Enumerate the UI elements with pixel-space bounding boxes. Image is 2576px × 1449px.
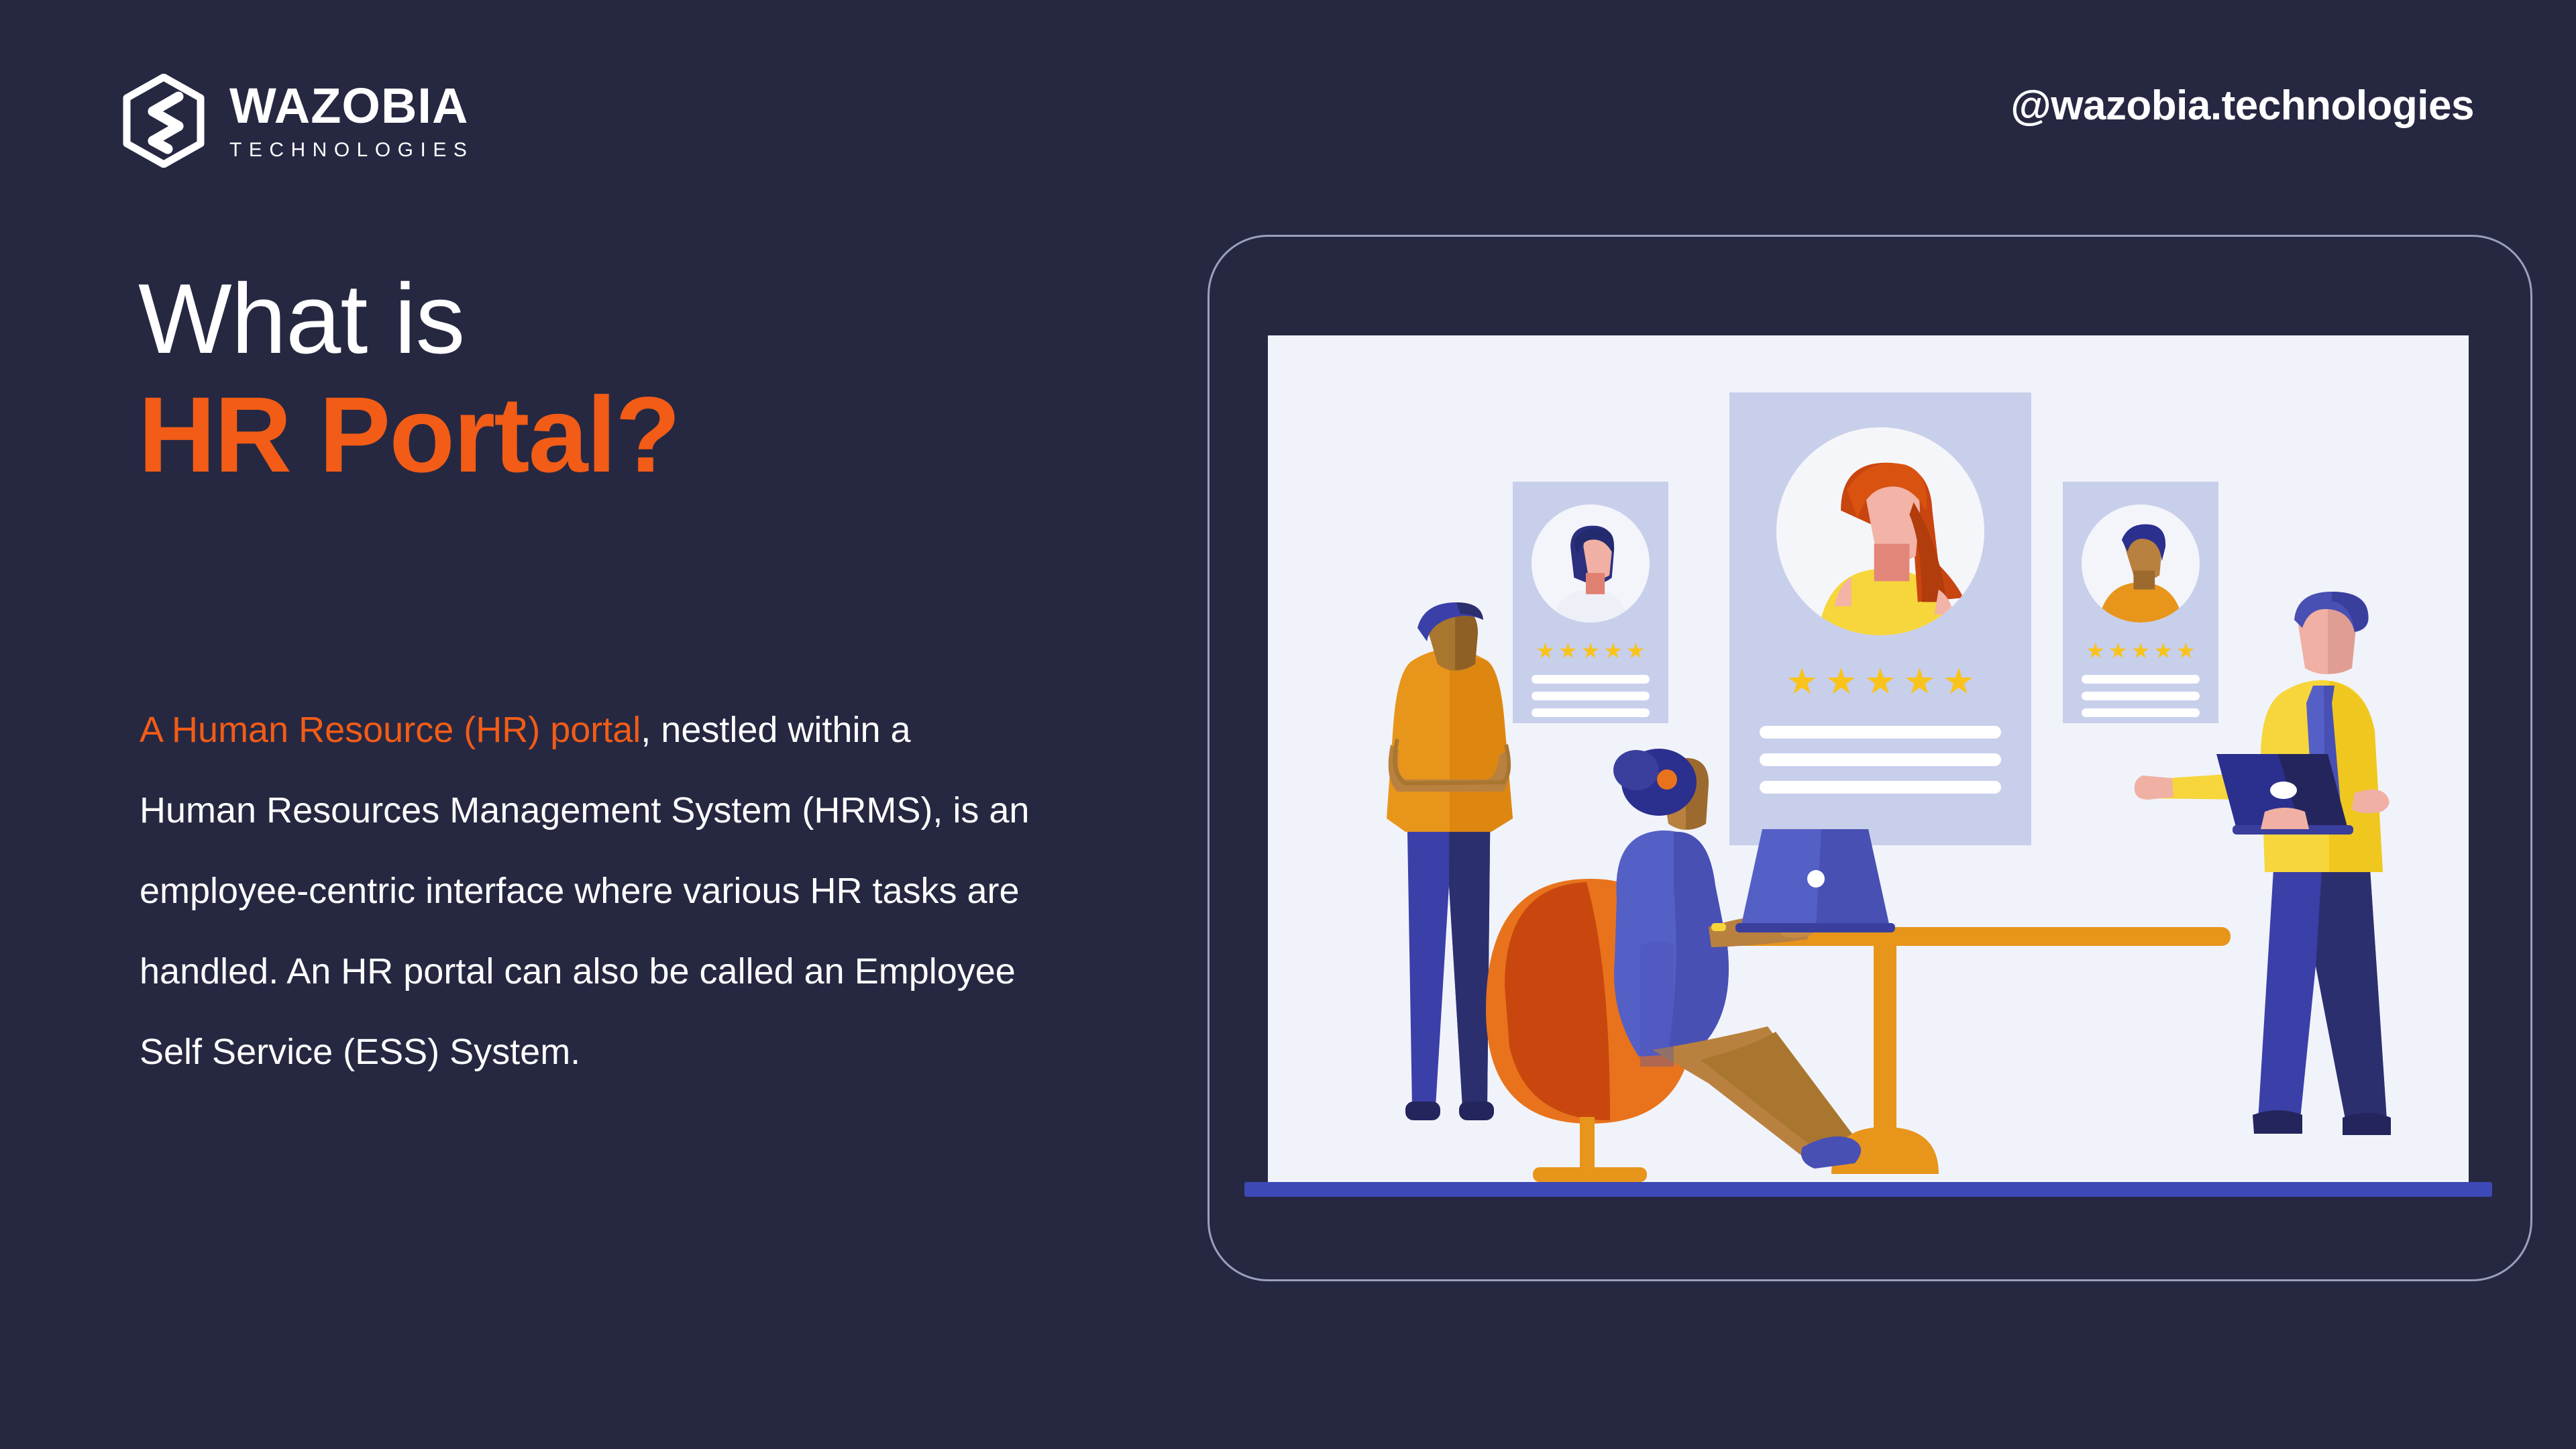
- body-paragraph: A Human Resource (HR) portal, nestled wi…: [140, 690, 1032, 1092]
- page-title: What is HR Portal?: [138, 267, 680, 491]
- star-icon: ★: [2108, 640, 2128, 661]
- body-rest-text: , nestled within a Human Resources Manag…: [140, 710, 1029, 1072]
- body-accent-phrase: A Human Resource (HR) portal: [140, 710, 641, 750]
- woman-red-hair-yellow-top-avatar-icon: [1776, 427, 1984, 635]
- blue-laptop-on-desk: [1735, 829, 1895, 932]
- rating-stars: ★ ★ ★ ★ ★: [1786, 663, 1975, 700]
- headline-line-1: What is: [138, 267, 680, 372]
- star-icon: ★: [1903, 663, 1935, 700]
- brand-logo[interactable]: WAZOBIA TECHNOLOGIES: [121, 74, 474, 168]
- standing-man-right-figure: [2133, 590, 2449, 1194]
- star-icon: ★: [1943, 663, 1975, 700]
- brand-name: WAZOBIA: [229, 81, 474, 131]
- floor-line: [1244, 1182, 2492, 1197]
- star-icon: ★: [1581, 640, 1601, 661]
- star-icon: ★: [1825, 663, 1857, 700]
- star-icon: ★: [1786, 663, 1818, 700]
- star-icon: ★: [2086, 640, 2105, 661]
- headline-line-2: HR Portal?: [138, 378, 680, 492]
- wazobia-hexagon-logo-icon: [121, 74, 207, 168]
- brand-tagline: TECHNOLOGIES: [229, 140, 474, 160]
- social-handle[interactable]: @wazobia.technologies: [2010, 82, 2474, 129]
- star-icon: ★: [1603, 640, 1623, 661]
- star-icon: ★: [1626, 640, 1646, 661]
- star-icon: ★: [1864, 663, 1896, 700]
